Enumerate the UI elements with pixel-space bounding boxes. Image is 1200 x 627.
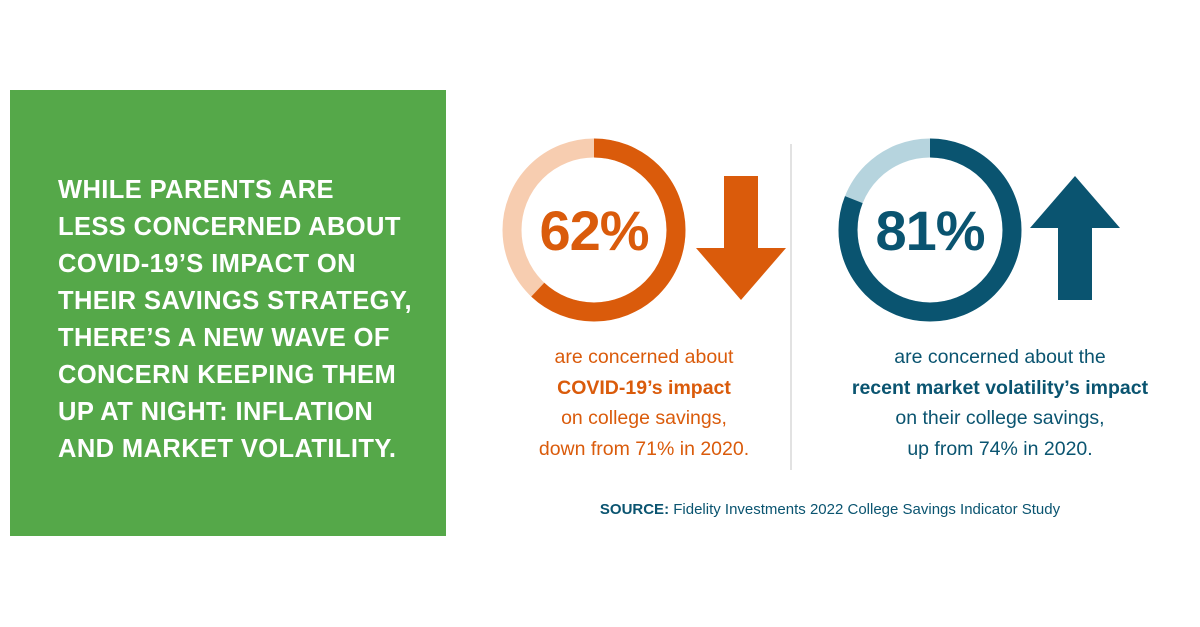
source-label: SOURCE:: [600, 501, 669, 518]
headline-text: WHILE PARENTS ARE LESS CONCERNED ABOUT C…: [58, 172, 418, 468]
arrow-up-glyph: [1030, 176, 1120, 300]
caption-covid-line3: on college savings,: [474, 403, 814, 434]
arrow-down-glyph: [696, 176, 786, 300]
stat-block-market: 81% are concerned about the recent marke…: [822, 130, 1172, 490]
headline-panel: WHILE PARENTS ARE LESS CONCERNED ABOUT C…: [10, 90, 446, 536]
caption-market-line4: up from 74% in 2020.: [810, 434, 1190, 465]
donut-chart-market: 81%: [834, 134, 1026, 326]
caption-market-line3: on their college savings,: [810, 403, 1190, 434]
donut-row-covid: 62%: [474, 130, 824, 330]
donut-value-label-market: 81%: [834, 134, 1026, 326]
donut-row-market: 81%: [822, 130, 1172, 330]
caption-covid-line4: down from 71% in 2020.: [474, 434, 814, 465]
caption-market-line1: are concerned about the: [810, 342, 1190, 373]
arrow-down-icon: [696, 176, 786, 300]
source-line: SOURCE: Fidelity Investments 2022 Colleg…: [460, 500, 1200, 520]
caption-market: are concerned about the recent market vo…: [810, 342, 1190, 464]
caption-market-line2: recent market volatility’s impact: [810, 373, 1190, 404]
caption-covid: are concerned about COVID-19’s impact on…: [474, 342, 814, 464]
donut-chart-covid: 62%: [498, 134, 690, 326]
infographic-canvas: WHILE PARENTS ARE LESS CONCERNED ABOUT C…: [0, 0, 1200, 627]
donut-value-label-covid: 62%: [498, 134, 690, 326]
arrow-up-icon: [1030, 176, 1120, 300]
vertical-divider: [790, 144, 792, 470]
statistics-area: 62% are concerned about COVID-19’s impac…: [460, 130, 1200, 550]
source-text: Fidelity Investments 2022 College Saving…: [669, 501, 1060, 518]
caption-covid-line1: are concerned about: [474, 342, 814, 373]
caption-covid-line2: COVID-19’s impact: [474, 373, 814, 404]
stat-block-covid: 62% are concerned about COVID-19’s impac…: [474, 130, 824, 490]
